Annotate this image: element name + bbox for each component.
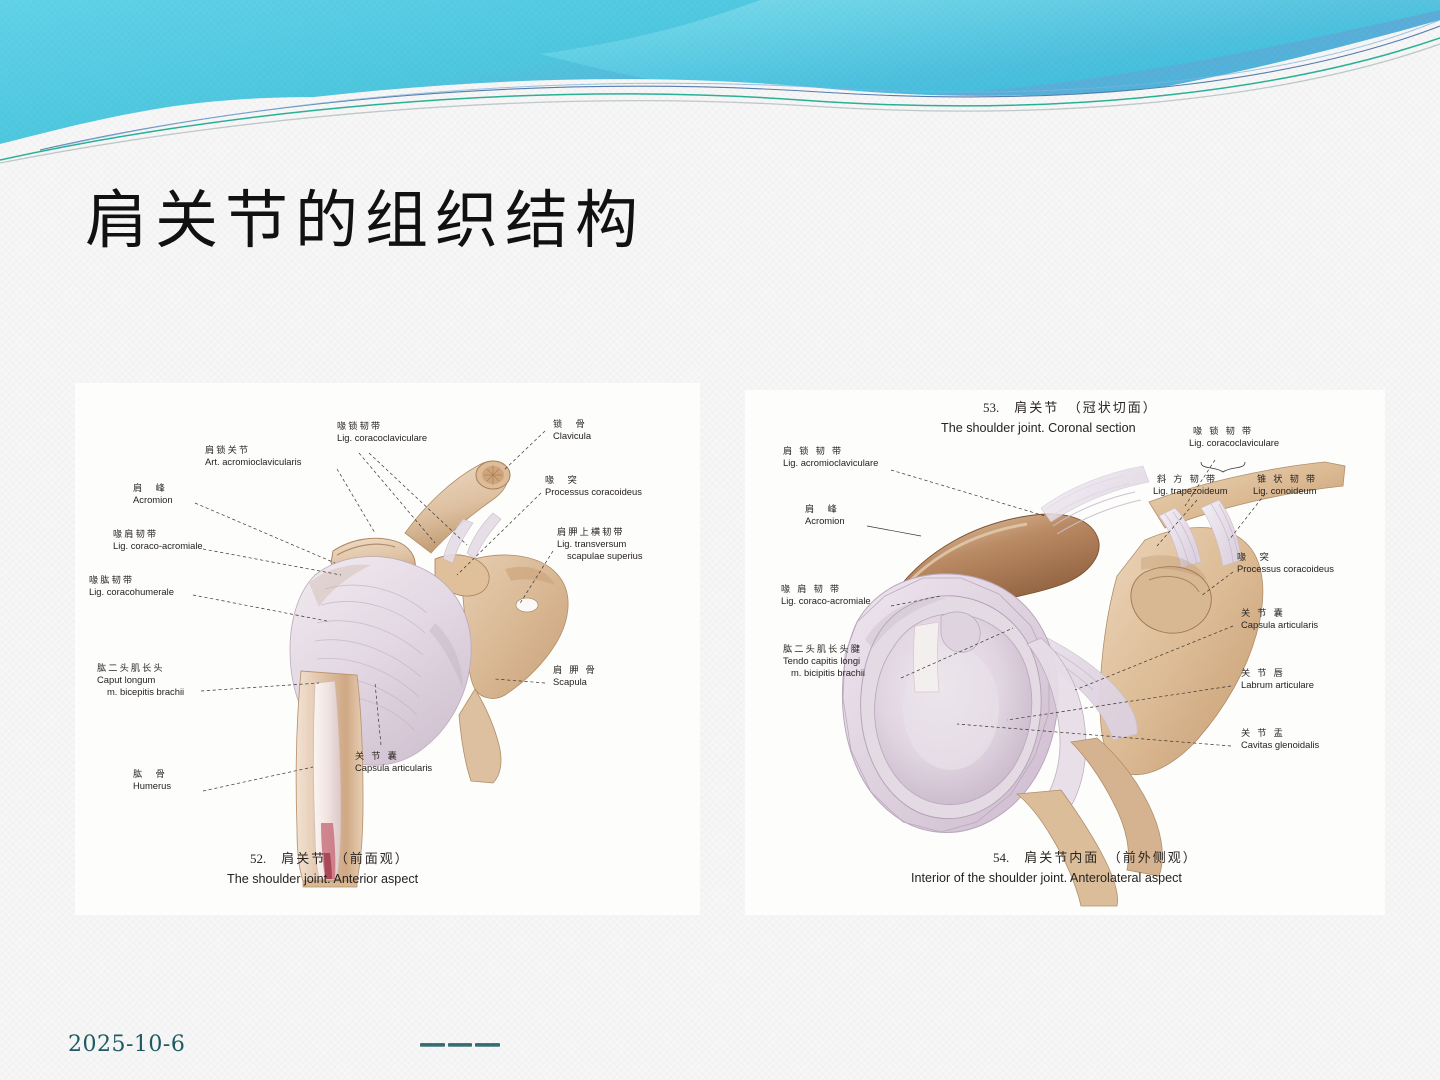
svg-text:喙肱韧带: 喙肱韧带 bbox=[89, 574, 134, 586]
svg-text:肩 峰: 肩 峰 bbox=[133, 482, 167, 494]
svg-text:喙 突: 喙 突 bbox=[1237, 551, 1271, 563]
svg-text:Caput longum: Caput longum bbox=[97, 674, 156, 685]
svg-text:Clavicula: Clavicula bbox=[553, 430, 592, 441]
svg-text:肩胛上横韧带: 肩胛上横韧带 bbox=[557, 526, 625, 538]
footer-dash-2 bbox=[448, 1043, 473, 1047]
figure-shoulder-joint-anterior: 肩锁关节 Art. acromioclavicularis 肩 峰 Acromi… bbox=[75, 383, 700, 915]
svg-text:关 节 唇: 关 节 唇 bbox=[1241, 667, 1285, 679]
svg-text:肱二头肌长头腱: 肱二头肌长头腱 bbox=[783, 643, 862, 655]
footer-dash-decoration bbox=[420, 1043, 500, 1049]
svg-text:关 节 盂: 关 节 盂 bbox=[1241, 727, 1285, 739]
svg-text:Processus coracoideus: Processus coracoideus bbox=[1237, 563, 1334, 574]
svg-text:54. 肩关节内面 （前外侧观）: 54. 肩关节内面 （前外侧观） bbox=[993, 850, 1198, 866]
svg-text:Lig. acromioclaviculare: Lig. acromioclaviculare bbox=[783, 457, 878, 468]
svg-text:Capsula articularis: Capsula articularis bbox=[355, 762, 432, 773]
svg-text:m. bicepitis brachii: m. bicepitis brachii bbox=[107, 686, 184, 697]
svg-text:53. 肩关节 （冠状切面）: 53. 肩关节 （冠状切面） bbox=[983, 400, 1158, 416]
svg-text:Capsula articularis: Capsula articularis bbox=[1241, 619, 1318, 630]
svg-text:Tendo capitis longi: Tendo capitis longi bbox=[783, 655, 860, 666]
footer-dash-3 bbox=[475, 1043, 500, 1047]
footer-date: 2025-10-6 bbox=[68, 1032, 185, 1057]
svg-text:喙肩韧带: 喙肩韧带 bbox=[113, 528, 158, 540]
svg-text:Lig. coracoclaviculare: Lig. coracoclaviculare bbox=[337, 432, 427, 443]
svg-text:Acromion: Acromion bbox=[805, 515, 845, 526]
svg-text:肱二头肌长头: 肱二头肌长头 bbox=[97, 662, 165, 674]
svg-text:Lig. coraco-acromiale: Lig. coraco-acromiale bbox=[781, 595, 871, 606]
svg-text:肩 锁 韧 带: 肩 锁 韧 带 bbox=[783, 445, 843, 457]
svg-text:肩 胛 骨: 肩 胛 骨 bbox=[553, 664, 597, 676]
svg-text:The shoulder joint. Coronal se: The shoulder joint. Coronal section bbox=[941, 421, 1136, 435]
svg-text:斜 方 韧 带: 斜 方 韧 带 bbox=[1157, 473, 1217, 485]
svg-text:52. 肩关节 （前面观）: 52. 肩关节 （前面观） bbox=[250, 851, 410, 867]
svg-text:锁 骨: 锁 骨 bbox=[553, 418, 587, 430]
svg-text:Lig. conoideum: Lig. conoideum bbox=[1253, 485, 1317, 496]
svg-text:Humerus: Humerus bbox=[133, 780, 171, 791]
footer-dash-1 bbox=[420, 1043, 445, 1047]
svg-text:The shoulder joint. Anterior a: The shoulder joint. Anterior aspect bbox=[227, 872, 419, 886]
svg-text:喙 突: 喙 突 bbox=[545, 474, 579, 486]
svg-text:肩 峰: 肩 峰 bbox=[805, 503, 839, 515]
svg-text:关 节 囊: 关 节 囊 bbox=[355, 750, 399, 762]
svg-text:Processus coracoideus: Processus coracoideus bbox=[545, 486, 642, 497]
svg-text:m. bicipitis brachii: m. bicipitis brachii bbox=[791, 667, 865, 678]
svg-text:Scapula: Scapula bbox=[553, 676, 588, 687]
svg-text:喙 锁 韧 带: 喙 锁 韧 带 bbox=[1193, 425, 1253, 437]
svg-text:Lig. trapezoideum: Lig. trapezoideum bbox=[1153, 485, 1228, 496]
figure-shoulder-joint-interior: 53. 肩关节 （冠状切面） The shoulder joint. Coron… bbox=[745, 390, 1385, 915]
svg-text:Acromion: Acromion bbox=[133, 494, 173, 505]
svg-text:Lig. transversum: Lig. transversum bbox=[557, 538, 626, 549]
svg-text:喙 肩 韧 带: 喙 肩 韧 带 bbox=[781, 583, 841, 595]
svg-text:锥 状 韧 带: 锥 状 韧 带 bbox=[1257, 473, 1317, 485]
svg-text:Art. acromioclavicularis: Art. acromioclavicularis bbox=[205, 456, 302, 467]
svg-text:肩锁关节: 肩锁关节 bbox=[205, 444, 250, 456]
svg-text:scapulae superius: scapulae superius bbox=[567, 550, 643, 561]
svg-text:关 节 囊: 关 节 囊 bbox=[1241, 607, 1285, 619]
header-decoration-band bbox=[0, 0, 1440, 170]
svg-text:Labrum articulare: Labrum articulare bbox=[1241, 679, 1314, 690]
svg-text:Interior of the shoulder joint: Interior of the shoulder joint. Anterola… bbox=[911, 871, 1182, 885]
svg-text:喙锁韧带: 喙锁韧带 bbox=[337, 420, 382, 432]
svg-text:肱 骨: 肱 骨 bbox=[133, 769, 167, 780]
svg-text:Lig. coraco-acromiale: Lig. coraco-acromiale bbox=[113, 540, 203, 551]
svg-text:Lig. coracoclaviculare: Lig. coracoclaviculare bbox=[1189, 437, 1279, 448]
svg-text:Lig. coracohumerale: Lig. coracohumerale bbox=[89, 586, 174, 597]
svg-text:Cavitas glenoidalis: Cavitas glenoidalis bbox=[1241, 739, 1319, 750]
page-title: 肩关节的组织结构 bbox=[85, 183, 645, 260]
